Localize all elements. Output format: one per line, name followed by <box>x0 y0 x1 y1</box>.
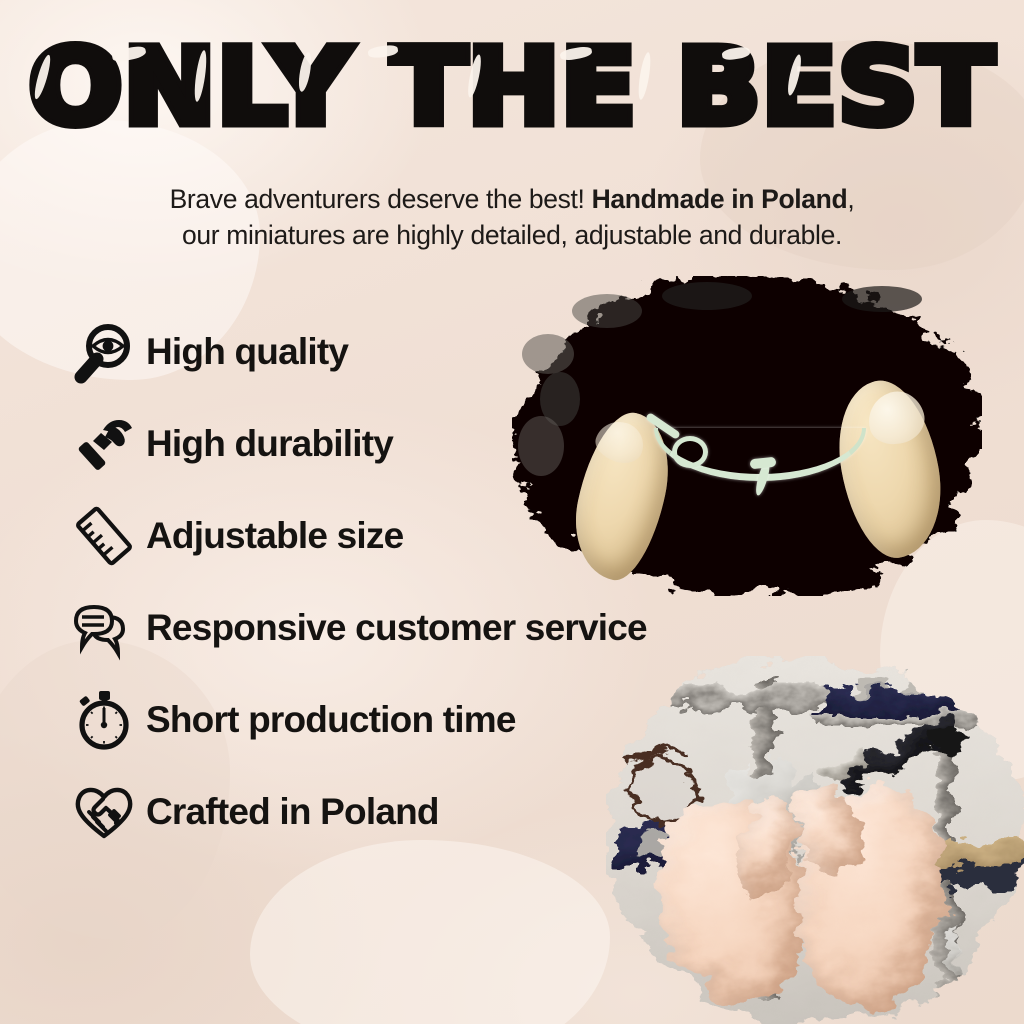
promo-poster: ONLY THE BEST Brave adventurers deserve … <box>0 0 1024 1024</box>
feature-label: Responsive customer service <box>146 607 647 649</box>
stopwatch-icon <box>62 681 146 759</box>
headline-area: ONLY THE BEST <box>0 34 1024 140</box>
handshake-heart-icon <box>62 773 146 851</box>
workshop-painting-photo <box>606 656 1024 1024</box>
speech-bubbles-icon <box>62 589 146 667</box>
feature-label: Short production time <box>146 699 516 741</box>
subtitle-bold-phrase: Handmade in Poland <box>592 184 848 214</box>
feature-label: Adjustable size <box>146 515 403 557</box>
subtitle-second-line: our miniatures are highly detailed, adju… <box>182 220 842 250</box>
subtitle: Brave adventurers deserve the best! Hand… <box>72 182 952 253</box>
background-texture-blotch <box>250 840 610 1024</box>
magnifier-eye-icon <box>62 313 146 391</box>
resin-part-loop <box>672 436 708 468</box>
feature-label: High durability <box>146 423 393 465</box>
page-title: ONLY THE BEST <box>29 34 995 140</box>
subtitle-lead: Brave adventurers deserve the best! <box>170 184 592 214</box>
brush-cap <box>936 728 966 756</box>
miniature-bits <box>852 678 882 694</box>
miniature-bits <box>902 680 928 694</box>
photo-torn-edge <box>606 656 1024 1024</box>
feature-label: High quality <box>146 331 348 373</box>
subtitle-tail: , <box>847 184 854 214</box>
ruler-icon <box>62 497 146 575</box>
flexible-resin-photo <box>512 276 982 596</box>
shelf-beam <box>818 712 1024 728</box>
feature-label: Crafted in Poland <box>146 791 439 833</box>
hammer-icon <box>62 405 146 483</box>
